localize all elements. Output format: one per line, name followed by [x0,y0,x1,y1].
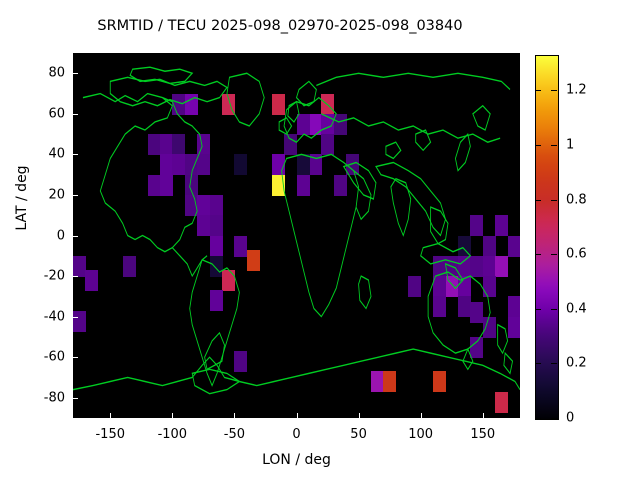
colorbar-tick-mark [535,309,541,310]
colorbar-tick-label: 0.6 [566,247,587,262]
colorbar-tick-label: 1 [566,138,574,153]
colorbar-tick-mark [551,200,557,201]
y-axis-tick-label: -60 [25,350,65,365]
y-axis-tick-mark [73,236,78,237]
srmtid-tecu-map-figure: SRMTID / TECU 2025-098_02970-2025-098_03… [0,0,640,480]
x-axis-label: LON / deg [73,452,520,468]
x-axis-tick-mark [483,413,484,418]
x-axis-tick-mark [110,413,111,418]
colorbar-tick-mark [551,418,557,419]
coastline-overlay [73,53,520,418]
colorbar-tick-mark [551,309,557,310]
y-axis-tick-label: 80 [25,66,65,81]
x-axis-tick-label: 100 [408,427,433,442]
colorbar-tick-mark [551,363,557,364]
colorbar-tick-label: 0.4 [566,301,587,316]
x-axis-tick-label: 50 [350,427,367,442]
y-axis-tick-mark [73,317,78,318]
y-axis-tick-mark [73,276,78,277]
y-axis-tick-label: -20 [25,269,65,284]
y-axis-tick-label: 40 [25,147,65,162]
colorbar-tick-mark [535,418,541,419]
y-axis-tick-label: 20 [25,187,65,202]
colorbar-tick-mark [535,145,541,146]
x-axis-tick-label: 150 [470,427,495,442]
colorbar-tick-mark [535,254,541,255]
y-axis-tick-mark [73,398,78,399]
y-axis-tick-mark [73,195,78,196]
y-axis-tick-label: -40 [25,309,65,324]
page-title: SRMTID / TECU 2025-098_02970-2025-098_03… [0,18,560,34]
colorbar-gradient [536,56,558,419]
x-axis-tick-label: -150 [95,427,125,442]
y-axis-tick-mark [73,73,78,74]
colorbar-tick-label: 0.8 [566,192,587,207]
x-axis-tick-mark [172,413,173,418]
colorbar [535,55,559,420]
map-plot-area [73,53,520,418]
colorbar-tick-label: 0 [566,411,574,426]
colorbar-tick-mark [551,90,557,91]
x-axis-tick-mark [421,413,422,418]
x-axis-tick-label: 0 [292,427,300,442]
colorbar-tick-label: 0.2 [566,356,587,371]
y-axis-tick-label: 60 [25,106,65,121]
y-axis-tick-mark [73,357,78,358]
colorbar-tick-mark [535,363,541,364]
colorbar-tick-mark [535,200,541,201]
y-axis-tick-mark [73,154,78,155]
colorbar-tick-mark [551,254,557,255]
x-axis-tick-label: -50 [224,427,245,442]
y-axis-tick-mark [73,114,78,115]
y-axis-tick-label: -80 [25,390,65,405]
x-axis-tick-label: -100 [158,427,188,442]
x-axis-tick-mark [359,413,360,418]
colorbar-tick-label: 1.2 [566,83,587,98]
x-axis-tick-mark [234,413,235,418]
colorbar-tick-mark [551,145,557,146]
y-axis-tick-label: 0 [25,228,65,243]
x-axis-tick-mark [297,413,298,418]
colorbar-tick-mark [535,90,541,91]
